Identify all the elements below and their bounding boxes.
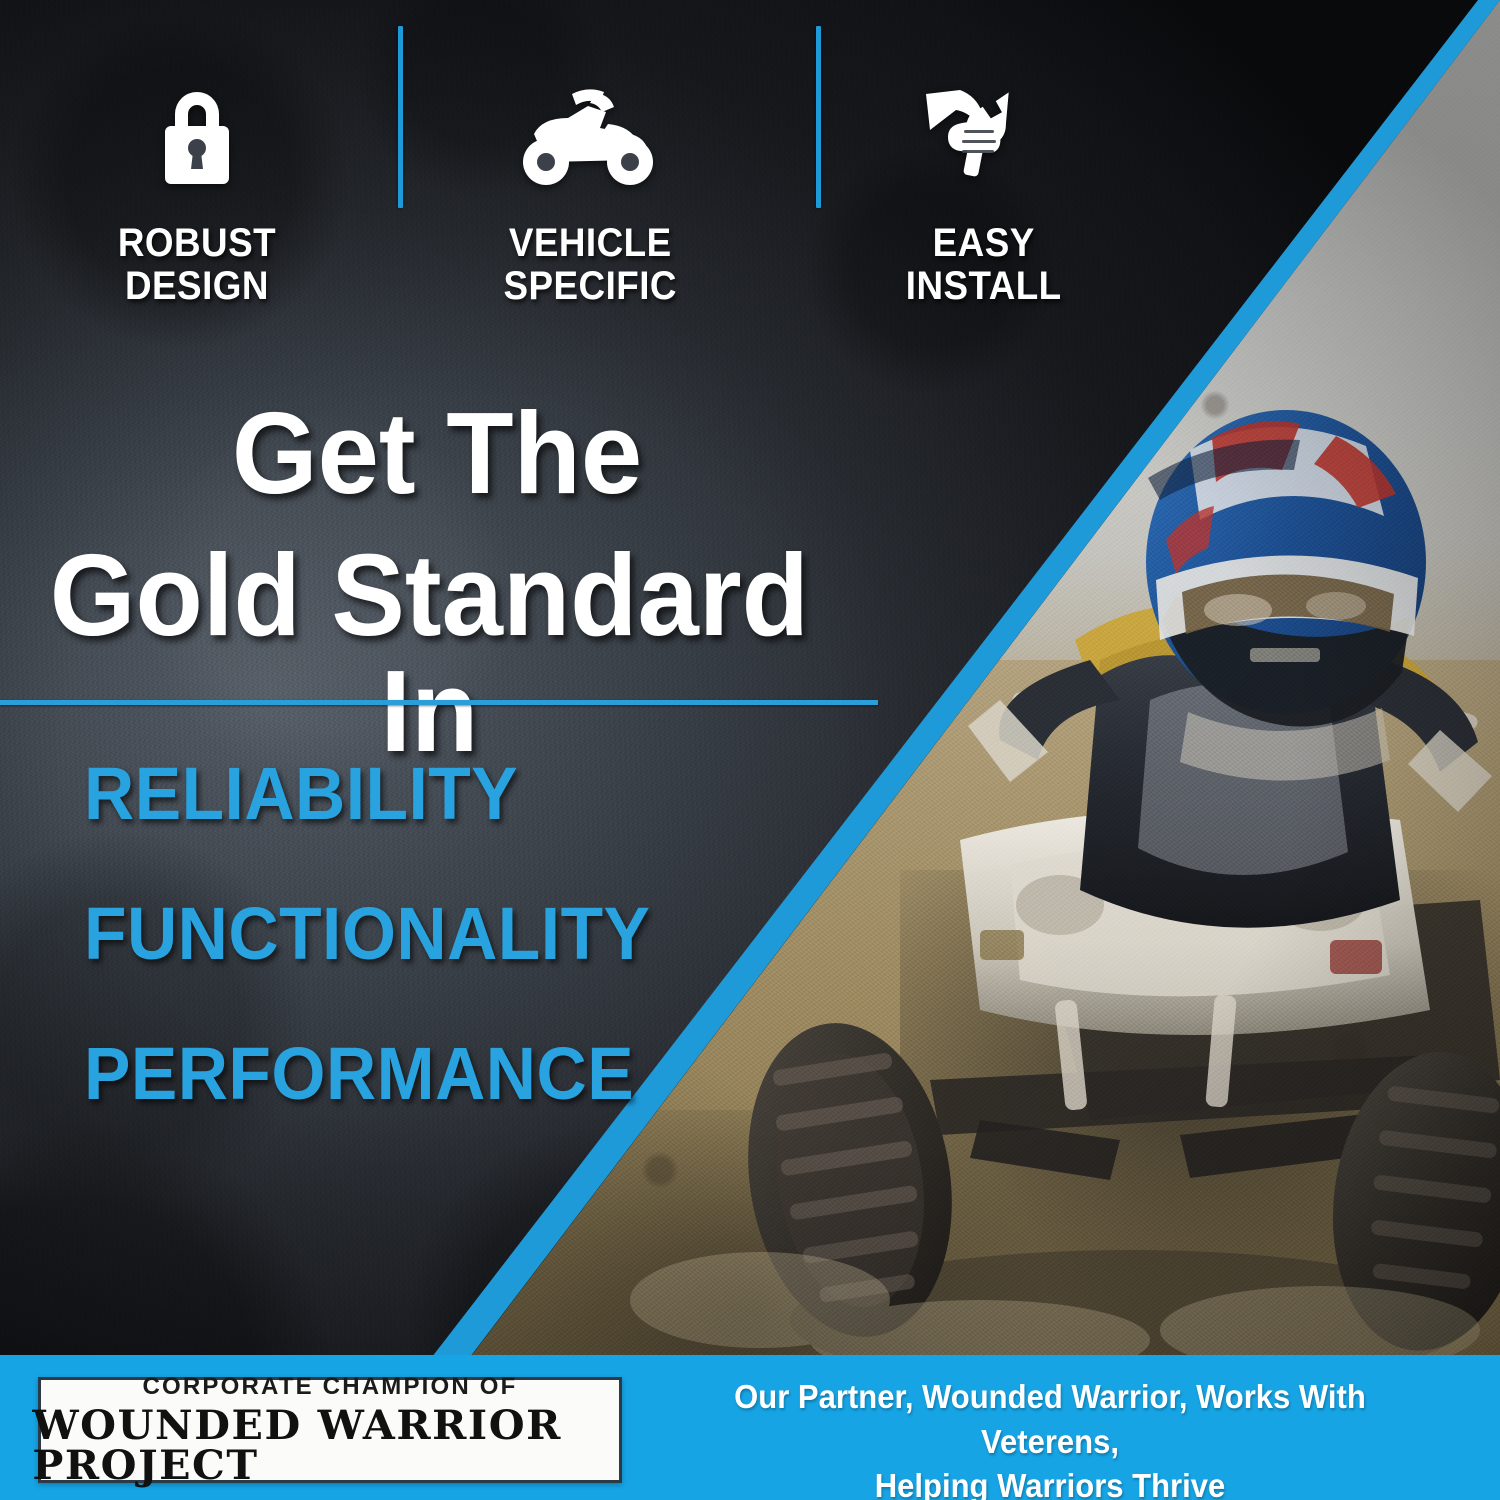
- feature-label-line1: EASY: [932, 221, 1034, 265]
- feature-label-line2: SPECIFIC: [503, 264, 676, 308]
- atv-quad-bike-icon: [512, 84, 668, 188]
- feature-vehicle-specific: VEHICLE SPECIFIC: [393, 84, 786, 308]
- hand-wrench-icon: [924, 84, 1042, 188]
- headline-line2: Gold Standard In: [0, 537, 836, 769]
- feature-label-line2: DESIGN: [125, 264, 269, 308]
- badge-top-text: CORPORATE CHAMPION OF: [142, 1375, 517, 1399]
- footer-message-line2: Helping Warriors Thrive: [674, 1464, 1426, 1500]
- headline: Get The Gold Standard In: [0, 395, 836, 769]
- footer-bar: CORPORATE CHAMPION OF WOUNDED WARRIOR PR…: [0, 1355, 1500, 1500]
- footer-message: Our Partner, Wounded Warrior, Works With…: [674, 1375, 1426, 1500]
- lock-icon: [151, 84, 243, 188]
- benefit-item: RELIABILITY: [84, 757, 650, 831]
- benefits-list: RELIABILITY FUNCTIONALITY PERFORMANCE: [84, 757, 687, 1177]
- benefit-item: PERFORMANCE: [84, 1037, 650, 1111]
- feature-label: EASY INSTALL: [905, 222, 1061, 308]
- advertisement-banner: ROBUST DESIGN: [0, 0, 1500, 1500]
- benefit-item: FUNCTIONALITY: [84, 897, 650, 971]
- wounded-warrior-project-badge: CORPORATE CHAMPION OF WOUNDED WARRIOR PR…: [38, 1377, 622, 1483]
- feature-label: VEHICLE SPECIFIC: [503, 222, 676, 308]
- headline-line1: Get The: [0, 395, 836, 511]
- feature-highlights-row: ROBUST DESIGN: [0, 84, 1180, 308]
- feature-label-line2: INSTALL: [905, 264, 1061, 308]
- feature-label-line1: ROBUST: [118, 221, 276, 265]
- feature-label-line1: VEHICLE: [509, 221, 672, 265]
- feature-divider-1: [398, 26, 403, 208]
- badge-main-text: WOUNDED WARRIOR PROJECT: [32, 1406, 627, 1486]
- feature-easy-install: EASY INSTALL: [787, 84, 1180, 308]
- headline-divider-rule: [0, 700, 878, 705]
- feature-robust-design: ROBUST DESIGN: [0, 84, 393, 308]
- footer-message-line1: Our Partner, Wounded Warrior, Works With…: [674, 1375, 1426, 1464]
- feature-label: ROBUST DESIGN: [118, 222, 276, 308]
- feature-divider-2: [816, 26, 821, 208]
